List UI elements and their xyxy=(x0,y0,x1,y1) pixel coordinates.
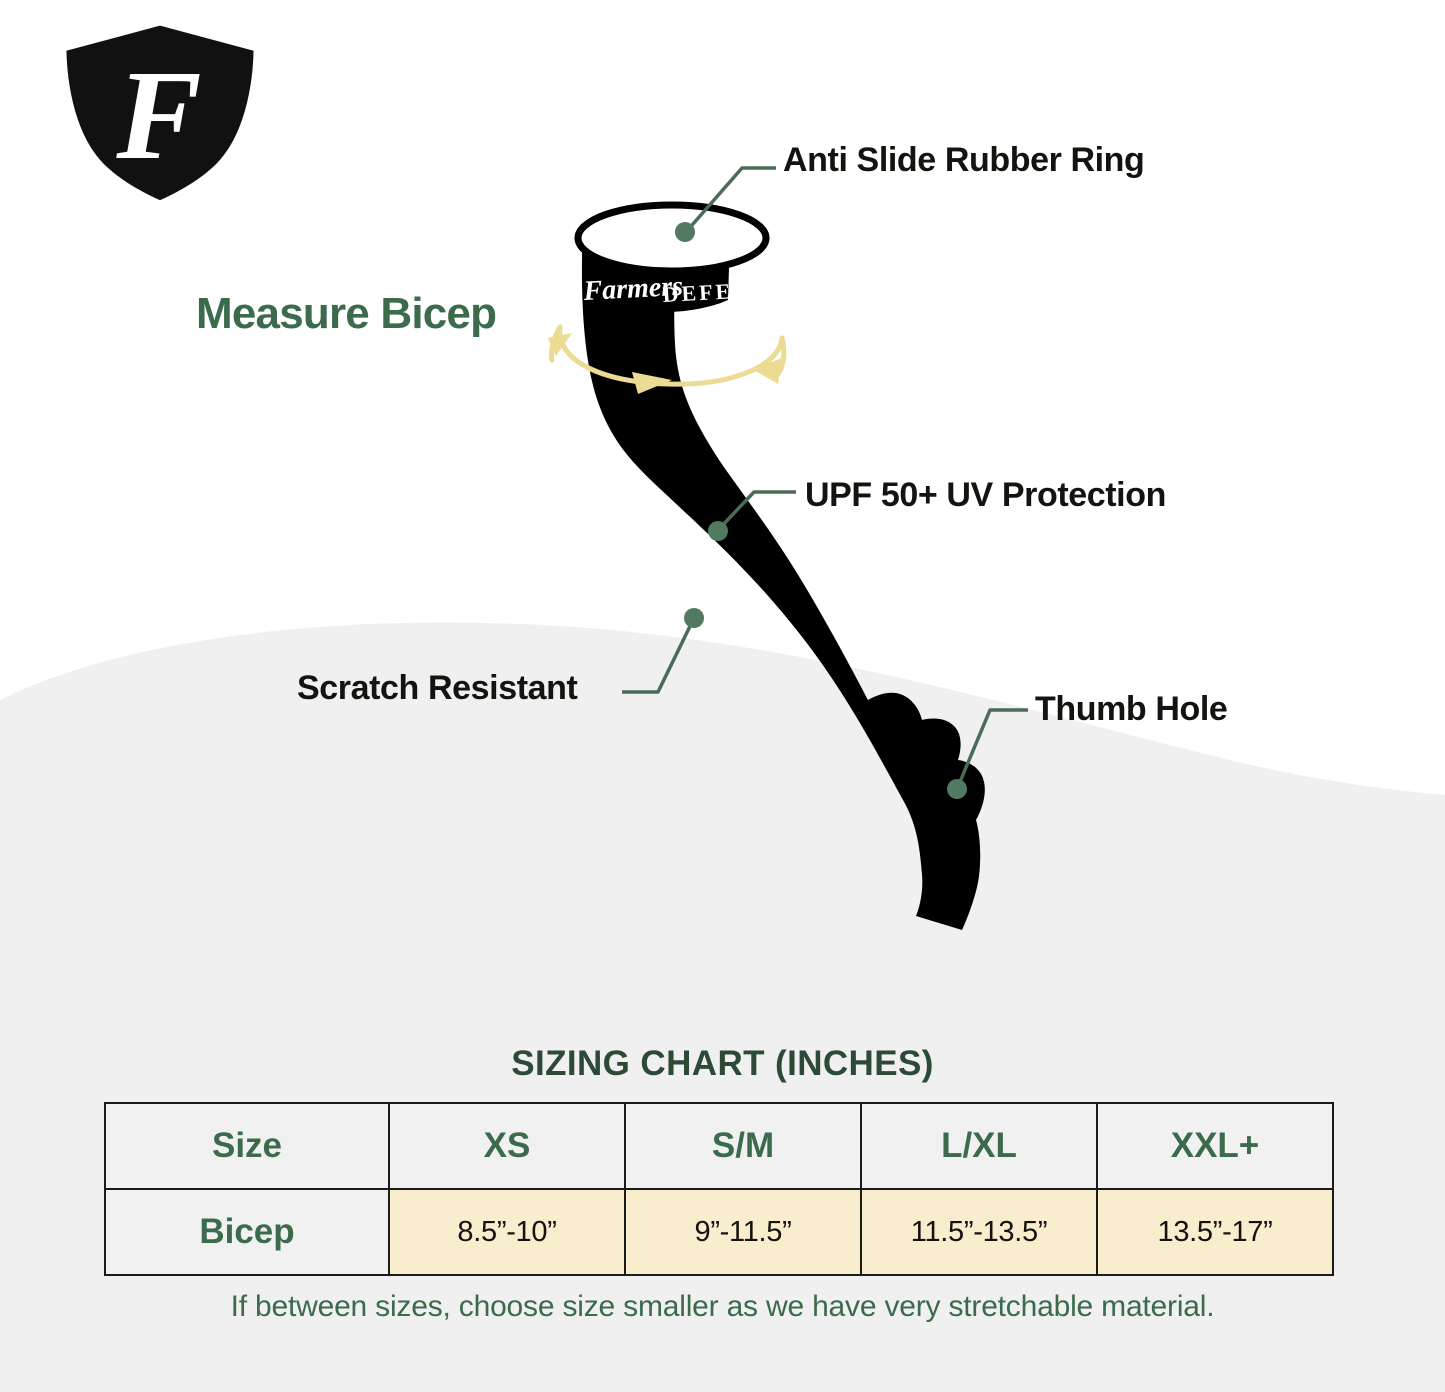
callout-label-thumb-hole: Thumb Hole xyxy=(1035,692,1227,726)
table-header-lxl: L/XL xyxy=(861,1103,1097,1189)
circular-measure-arrow-icon xyxy=(551,327,783,384)
callout-label-measure-bicep: Measure Bicep xyxy=(196,292,496,336)
sleeve-opening xyxy=(578,205,766,271)
table-header-xxl: XXL+ xyxy=(1097,1103,1333,1189)
table-cell-bicep-xxl: 13.5”-17” xyxy=(1097,1189,1333,1275)
sizing-chart-note: If between sizes, choose size smaller as… xyxy=(0,1290,1445,1324)
table-header-size: Size xyxy=(105,1103,389,1189)
sleeve-brand-block: DEFENSE xyxy=(662,276,786,307)
table-cell-bicep-lxl: 11.5”-13.5” xyxy=(861,1189,1097,1275)
sizing-infographic-page: F Farmers DEFENSE xyxy=(0,0,1445,1392)
sizing-chart-table: Size XS S/M L/XL XXL+ Bicep 8.5”-10” 9”-… xyxy=(104,1102,1334,1276)
leader-dot-upf xyxy=(708,521,728,541)
sleeve-brand-mark: Farmers DEFENSE xyxy=(582,271,786,307)
callout-label-anti-slide-rubber-ring: Anti Slide Rubber Ring xyxy=(783,143,1144,177)
leader-dot-scratch xyxy=(684,608,704,628)
brand-shield-logo: F xyxy=(55,18,265,208)
leader-line-scratch xyxy=(622,618,694,692)
table-cell-bicep-sm: 9”-11.5” xyxy=(625,1189,861,1275)
shield-logo-letter: F xyxy=(115,44,201,186)
table-header-row: Size XS S/M L/XL XXL+ xyxy=(105,1103,1333,1189)
leader-line-anti-slide xyxy=(686,168,776,232)
sleeve-brand-script: Farmers xyxy=(582,271,684,307)
leader-line-upf xyxy=(718,492,796,530)
leader-dot-anti-slide xyxy=(675,222,695,242)
table-row-label-bicep: Bicep xyxy=(105,1189,389,1275)
table-header-sm: S/M xyxy=(625,1103,861,1189)
table-header-xs: XS xyxy=(389,1103,625,1189)
leader-line-thumb-hole xyxy=(957,710,1028,789)
table-row: Bicep 8.5”-10” 9”-11.5” 11.5”-13.5” 13.5… xyxy=(105,1189,1333,1275)
callout-label-scratch-resistant: Scratch Resistant xyxy=(297,671,577,705)
leader-dot-thumb-hole xyxy=(947,779,967,799)
measure-arrowheads xyxy=(548,333,782,394)
table-cell-bicep-xs: 8.5”-10” xyxy=(389,1189,625,1275)
callout-label-upf-uv-protection: UPF 50+ UV Protection xyxy=(805,478,1166,512)
sizing-chart-title: SIZING CHART (INCHES) xyxy=(0,1044,1445,1084)
sleeve-silhouette xyxy=(578,204,985,930)
